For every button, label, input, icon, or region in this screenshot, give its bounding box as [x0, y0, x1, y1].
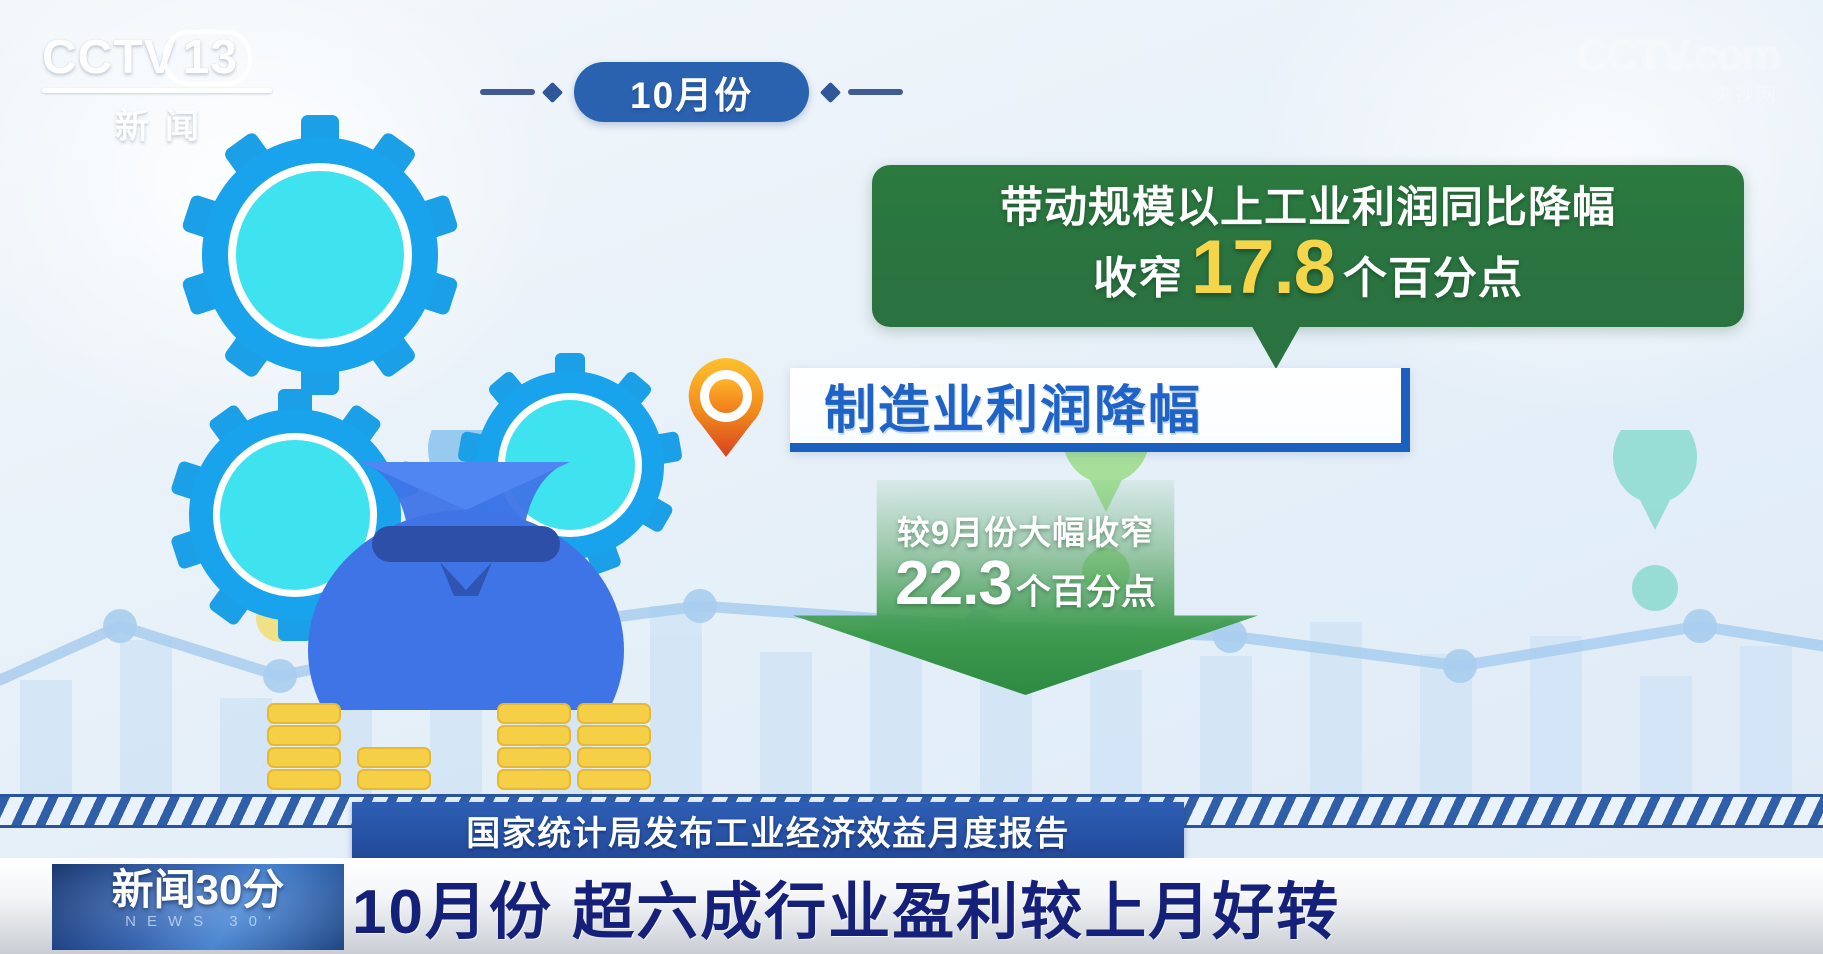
broadcast-screen: CCTV13 新闻 CCTV.com 央视网 10月份 [0, 0, 1823, 954]
green-callout-suffix: 个百分点 [1343, 242, 1523, 306]
cctv-channel-number: 13 [163, 30, 252, 86]
manufacturing-label: 制造业利润降幅 [790, 368, 1410, 452]
down-arrow-line1: 较9月份大幅收窄 [793, 506, 1258, 554]
green-callout-prefix: 收窄 [1093, 242, 1183, 306]
kicker-text: 国家统计局发布工业经济效益月度报告 [466, 806, 1070, 855]
watermark-primary: CCTV.com [1577, 34, 1779, 78]
program-logo: 新闻30分 NEWS 30' [52, 864, 344, 950]
watermark-secondary: 央视网 [1577, 80, 1779, 107]
down-arrow-suffix: 个百分点 [1016, 564, 1156, 615]
dash-icon [848, 89, 903, 95]
green-callout-line2: 收窄 17.8 个百分点 [1093, 236, 1523, 306]
manufacturing-label-text: 制造业利润降幅 [824, 368, 1202, 443]
down-arrow-value: 22.3 [895, 556, 1012, 612]
down-arrow-line2: 22.3 个百分点 [793, 556, 1258, 615]
green-callout-value: 17.8 [1191, 236, 1335, 301]
callout-tail-icon [1250, 323, 1302, 369]
cctv-wordmark: CCTV [42, 31, 177, 84]
decoration-right [823, 85, 903, 100]
down-arrow-text: 较9月份大幅收窄 22.3 个百分点 [793, 506, 1258, 615]
cctv-logo-mark: CCTV13 [42, 30, 272, 86]
green-callout: 带动规模以上工业利润同比降幅 收窄 17.8 个百分点 [872, 165, 1744, 327]
headline: 10月份 超六成行业盈利较上月好转 [352, 862, 1340, 950]
cctv-com-watermark: CCTV.com 央视网 [1577, 34, 1779, 107]
diamond-icon [820, 81, 841, 102]
gears-money-illustration [110, 90, 730, 710]
down-arrow-callout: 较9月份大幅收窄 22.3 个百分点 [793, 480, 1258, 695]
coin-stacks-icon [262, 688, 692, 798]
program-logo-en: NEWS 30' [52, 913, 344, 930]
location-pin-icon [684, 356, 768, 460]
gear-icon [181, 115, 459, 395]
headline-text: 10月份 超六成行业盈利较上月好转 [352, 861, 1340, 951]
kicker-bar: 国家统计局发布工业经济效益月度报告 [352, 802, 1184, 858]
program-logo-cn: 新闻30分 [52, 868, 344, 912]
